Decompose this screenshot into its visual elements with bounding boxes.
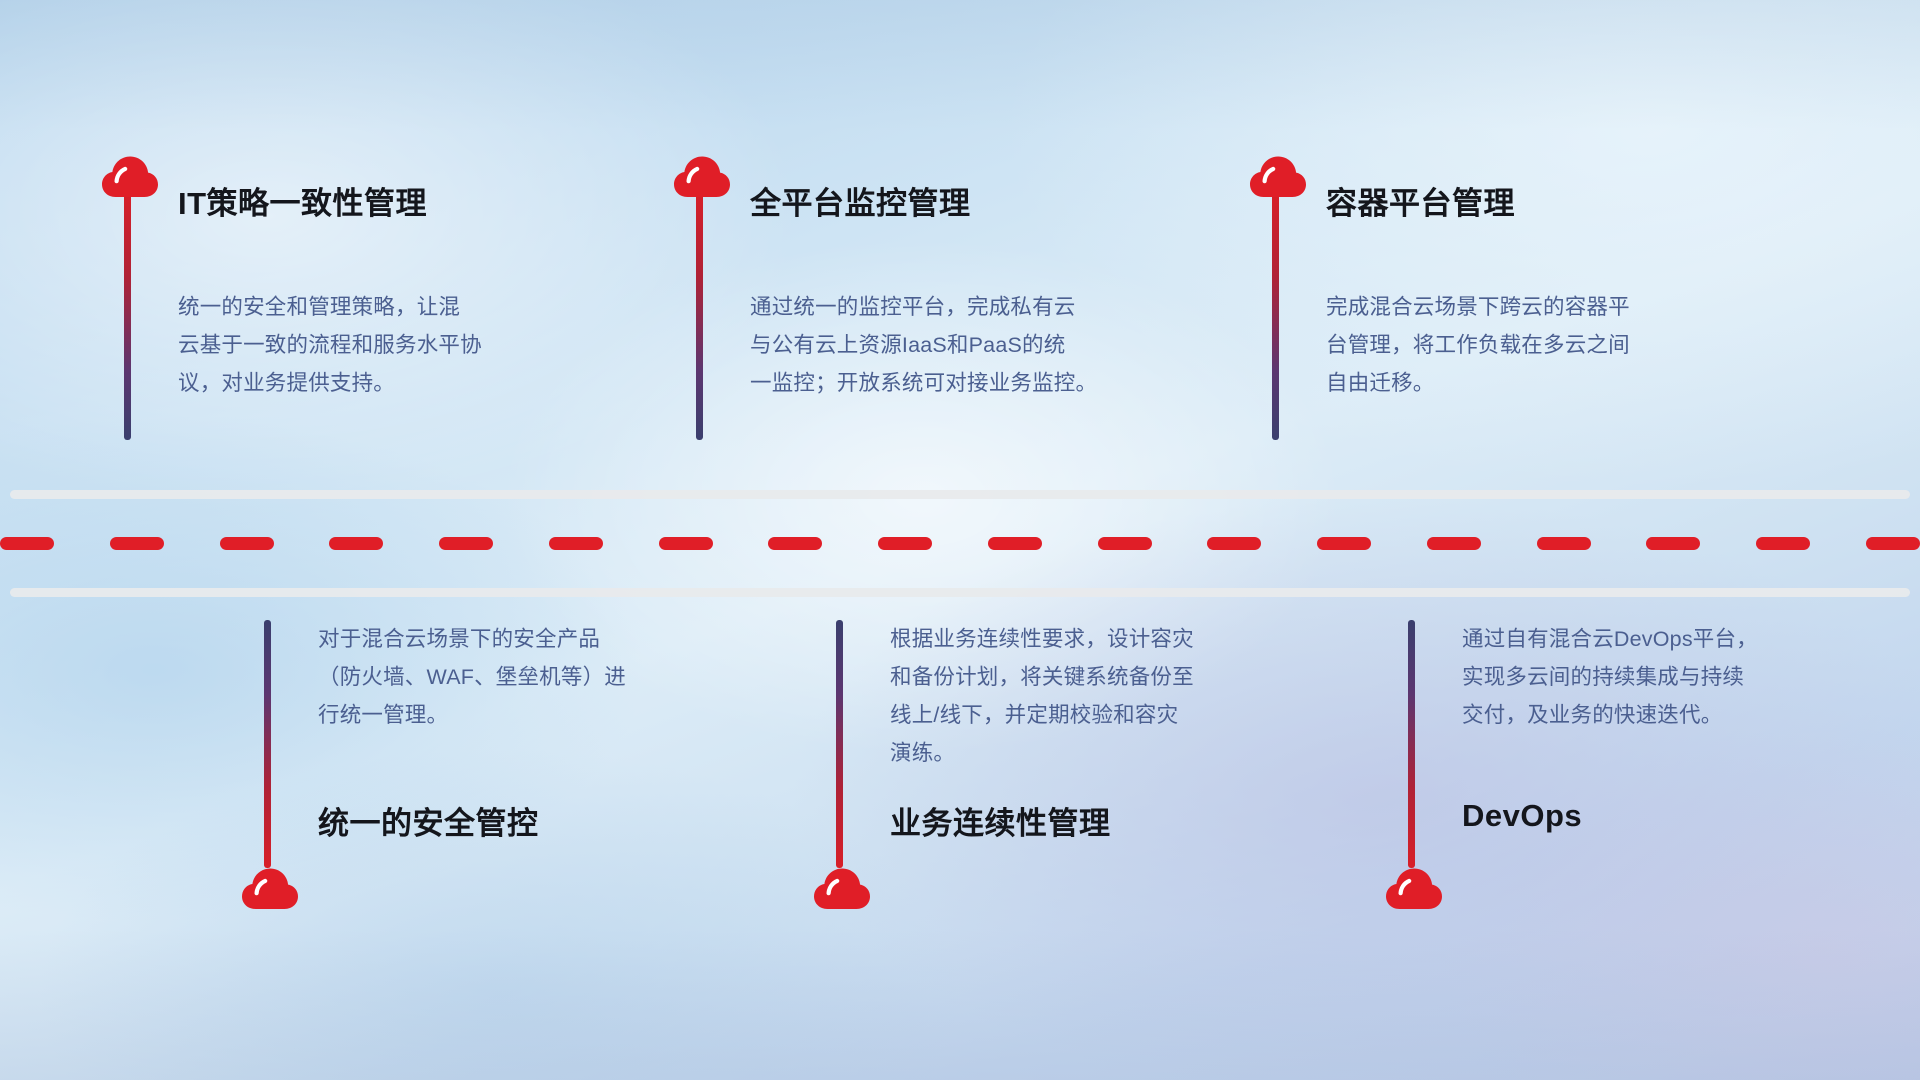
card-title: IT策略一致性管理 xyxy=(178,178,427,223)
divider-dash xyxy=(1866,537,1920,550)
divider-dash xyxy=(1207,537,1261,550)
stem-line xyxy=(124,192,131,440)
divider-dash xyxy=(439,537,493,550)
card-title: 统一的安全管控 xyxy=(318,798,539,843)
stem-line xyxy=(264,620,271,868)
stem-line xyxy=(1408,620,1415,868)
divider-dash xyxy=(659,537,713,550)
divider-dash xyxy=(549,537,603,550)
card-body: 通过统一的监控平台，完成私有云 与公有云上资源IaaS和PaaS的统 一监控；开… xyxy=(750,288,1155,402)
divider-dash xyxy=(768,537,822,550)
cloud-icon xyxy=(1248,150,1308,200)
stem-line xyxy=(1272,192,1279,440)
card-body: 对于混合云场景下的安全产品 （防火墙、WAF、堡垒机等）进 行统一管理。 xyxy=(318,620,723,734)
card-title: 业务连续性管理 xyxy=(890,798,1111,843)
divider-dash xyxy=(1537,537,1591,550)
divider-dash xyxy=(110,537,164,550)
card-body: 统一的安全和管理策略，让混 云基于一致的流程和服务水平协 议，对业务提供支持。 xyxy=(178,288,583,402)
card-body: 通过自有混合云DevOps平台， 实现多云间的持续集成与持续 交付，及业务的快速… xyxy=(1462,620,1867,734)
divider-dash xyxy=(0,537,54,550)
divider-dash xyxy=(1646,537,1700,550)
divider-dash xyxy=(1317,537,1371,550)
stem-line xyxy=(696,192,703,440)
card-body: 根据业务连续性要求，设计容灾 和备份计划，将关键系统备份至 线上/线下，并定期校… xyxy=(890,620,1295,772)
divider-rail-top xyxy=(10,490,1910,499)
cloud-icon xyxy=(672,150,732,200)
divider-rail-bottom xyxy=(10,588,1910,597)
cloud-icon xyxy=(812,862,872,912)
divider-dash xyxy=(1098,537,1152,550)
divider-band xyxy=(0,490,1920,600)
divider-dash xyxy=(220,537,274,550)
stem-line xyxy=(836,620,843,868)
divider-dash xyxy=(1427,537,1481,550)
card-title: DevOps xyxy=(1462,798,1582,834)
divider-dash xyxy=(878,537,932,550)
divider-dash xyxy=(329,537,383,550)
divider-dashed-line xyxy=(0,537,1920,550)
infographic-canvas: IT策略一致性管理 统一的安全和管理策略，让混 云基于一致的流程和服务水平协 议… xyxy=(0,0,1920,1080)
divider-dash xyxy=(988,537,1042,550)
cloud-icon xyxy=(1384,862,1444,912)
card-body: 完成混合云场景下跨云的容器平 台管理，将工作负载在多云之间 自由迁移。 xyxy=(1326,288,1731,402)
cloud-icon xyxy=(240,862,300,912)
card-title: 容器平台管理 xyxy=(1326,178,1515,223)
divider-dash xyxy=(1756,537,1810,550)
cloud-icon xyxy=(100,150,160,200)
card-title: 全平台监控管理 xyxy=(750,178,971,223)
